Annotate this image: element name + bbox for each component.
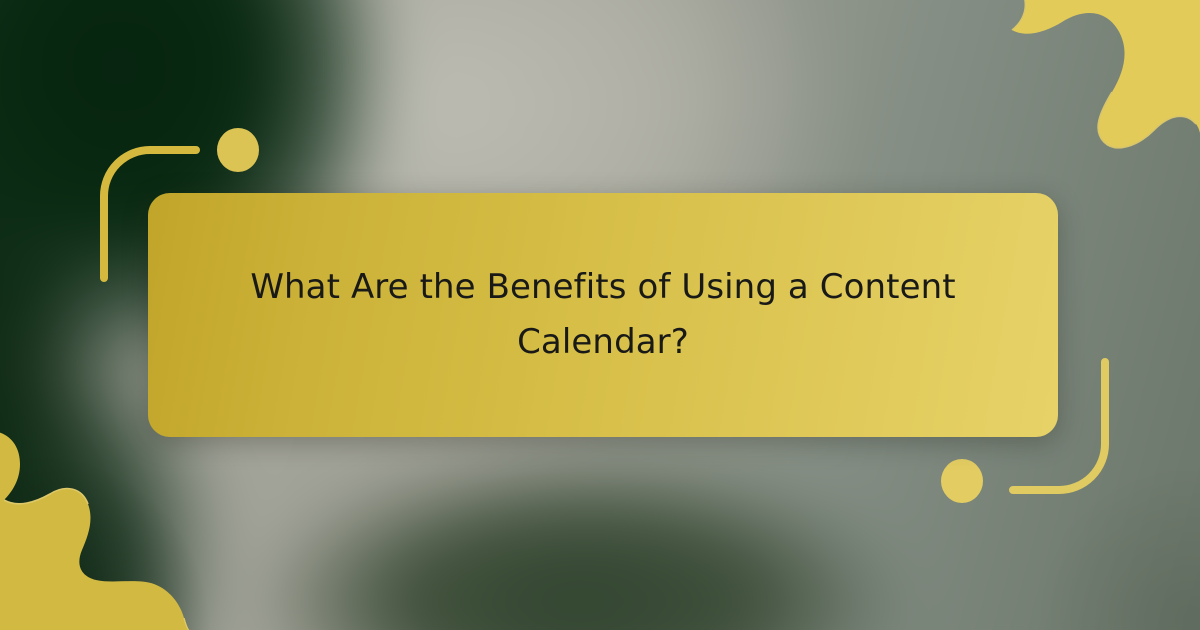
accent-dot-bottom-right-icon bbox=[941, 459, 983, 503]
title-card: What Are the Benefits of Using a Content… bbox=[148, 193, 1058, 437]
page-title: What Are the Benefits of Using a Content… bbox=[214, 260, 992, 370]
title-card-canvas: What Are the Benefits of Using a Content… bbox=[0, 0, 1200, 630]
accent-dot-top-left-icon bbox=[217, 128, 259, 172]
